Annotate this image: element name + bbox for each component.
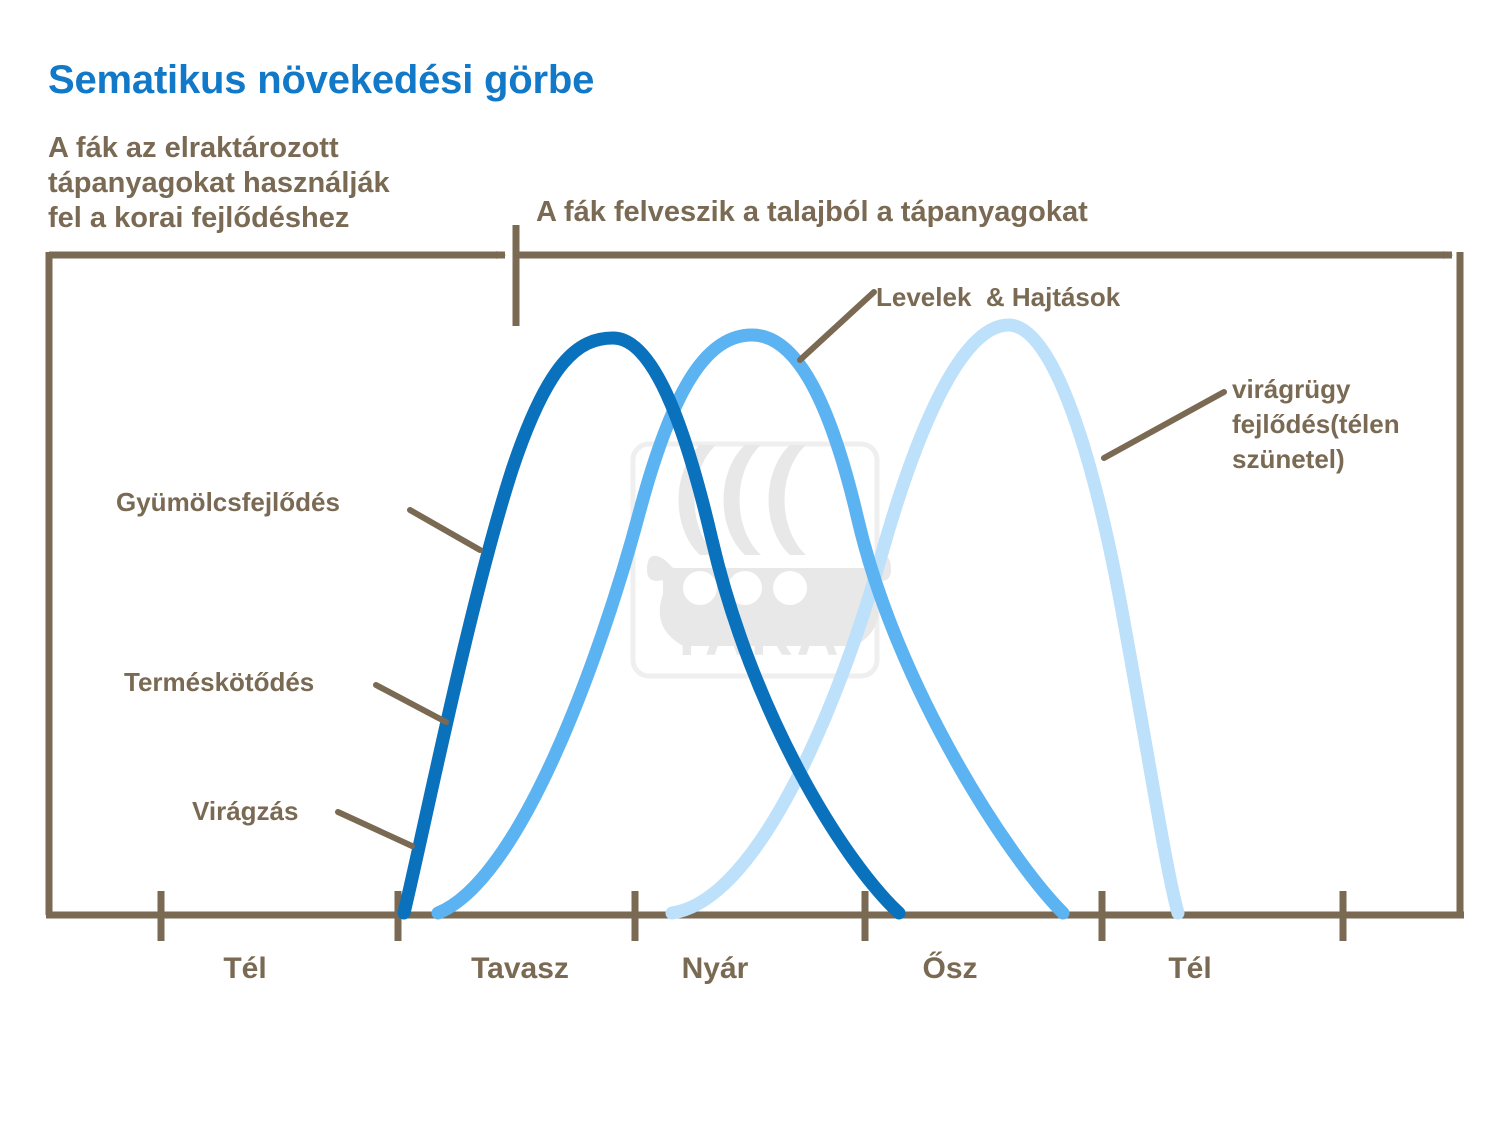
x-axis-label-2: Tavasz (471, 952, 569, 986)
leader-fruit-set (376, 685, 446, 722)
curve-label-fruit-set: Terméskötődés (124, 667, 314, 698)
svg-text:YARA: YARA (667, 603, 842, 668)
chart-canvas: YARA (0, 0, 1504, 1129)
x-axis-label-4: Ősz (922, 952, 977, 986)
phase-divider-arrows (49, 225, 1452, 326)
x-axis-label-5: Tél (1168, 952, 1211, 986)
leader-leaves (800, 292, 874, 360)
curve-label-flower-bud: virágrügy fejlődés(télen szünetel) (1232, 372, 1462, 477)
curve-label-flowering: Virágzás (192, 796, 298, 827)
page-title: Sematikus növekedési görbe (48, 58, 594, 103)
x-axis-label-1: Tél (223, 952, 266, 986)
leader-flowering (338, 812, 412, 846)
note-left-phase: A fák az elraktározott tápanyagokat hasz… (48, 131, 508, 236)
curve-label-fruit-development: Gyümölcsfejlődés (116, 487, 340, 518)
leader-flower-bud (1104, 392, 1224, 458)
x-axis-label-3: Nyár (682, 952, 749, 986)
curve-label-leaves: Levelek & Hajtások (876, 282, 1120, 313)
note-right-phase: A fák felveszik a talajból a tápanyagoka… (536, 196, 1088, 229)
leader-fruit-development (410, 510, 480, 550)
